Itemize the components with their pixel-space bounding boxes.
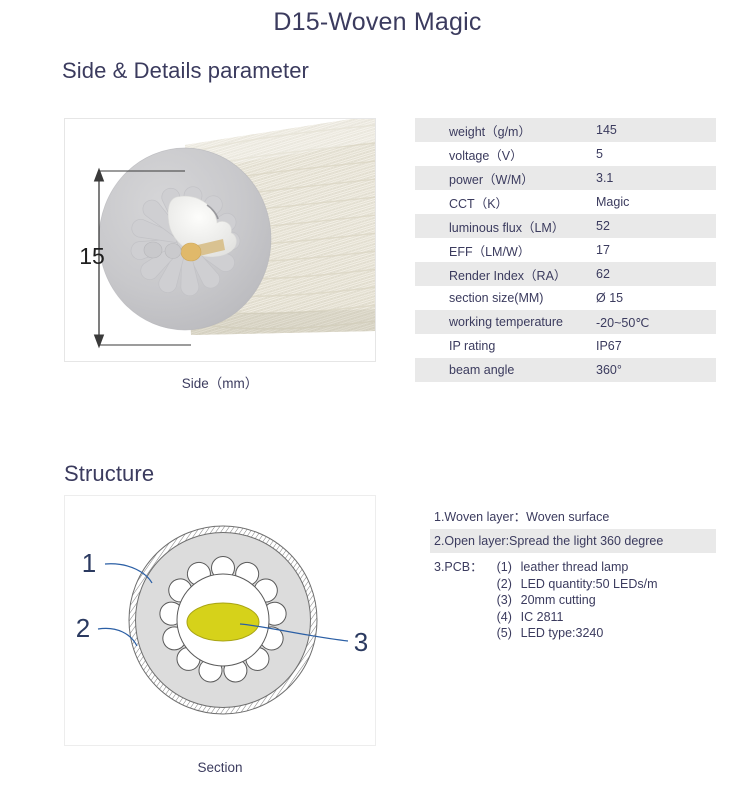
param-name: power（W/M） <box>415 166 582 190</box>
section-diagram-frame: 1 2 3 <box>64 495 376 746</box>
param-value: 5 <box>582 142 716 166</box>
pcb-entry-number: (4) <box>497 609 521 626</box>
table-row: luminous flux（LM） 52 <box>415 214 716 238</box>
structure-description-list: 1.Woven layer：Woven surface 2.Open layer… <box>430 505 716 642</box>
pcb-entry-number: (5) <box>497 625 521 642</box>
param-value: 3.1 <box>582 166 716 190</box>
table-row: EFF（LM/W） 17 <box>415 238 716 262</box>
pcb-entry-text: 20mm cutting <box>521 593 596 607</box>
pcb-entry: (1)leather thread lamp <box>497 559 716 576</box>
param-name: EFF（LM/W） <box>415 238 582 262</box>
pcb-entry-list: (1)leather thread lamp (2)LED quantity:5… <box>497 559 716 642</box>
section-caption: Section <box>64 760 376 775</box>
param-value: IP67 <box>582 334 716 358</box>
side-product-photo: 15 <box>65 119 376 362</box>
param-name: section size(MM) <box>415 286 582 310</box>
pcb-entry-number: (2) <box>497 576 521 593</box>
pcb-ellipse <box>187 603 259 641</box>
pcb-entry: (5)LED type:3240 <box>497 625 716 642</box>
structure-heading: Structure <box>64 460 364 487</box>
table-row: voltage（V） 5 <box>415 142 716 166</box>
pcb-entry-text: LED type:3240 <box>521 626 604 640</box>
pcb-entry-number: (3) <box>497 592 521 609</box>
table-row: IP rating IP67 <box>415 334 716 358</box>
table-row: working temperature -20~50℃ <box>415 310 716 334</box>
side-photo-frame: 15 <box>64 118 376 362</box>
structure-item-open-layer: 2.Open layer:Spread the light 360 degree <box>430 529 716 553</box>
parameter-table-body: weight（g/m） 145 voltage（V） 5 power（W/M） … <box>415 118 716 382</box>
pcb-entry: (2)LED quantity:50 LEDs/m <box>497 576 716 593</box>
table-row: beam angle 360° <box>415 358 716 382</box>
table-row: section size(MM) Ø 15 <box>415 286 716 310</box>
param-value: 360° <box>582 358 716 382</box>
param-value: Magic <box>582 190 716 214</box>
pcb-entry: (4)IC 2811 <box>497 609 716 626</box>
param-value: 62 <box>582 262 716 286</box>
callout-1: 1 <box>82 548 96 578</box>
param-value: 17 <box>582 238 716 262</box>
structure-item-pcb: 3.PCB： (1)leather thread lamp (2)LED qua… <box>430 553 716 642</box>
table-row: CCT（K） Magic <box>415 190 716 214</box>
pcb-entry-text: leather thread lamp <box>521 560 629 574</box>
pcb-entry-number: (1) <box>497 559 521 576</box>
table-row: weight（g/m） 145 <box>415 118 716 142</box>
callout-2: 2 <box>76 613 90 643</box>
parameter-table: weight（g/m） 145 voltage（V） 5 power（W/M） … <box>415 118 716 382</box>
structure-item-woven-layer: 1.Woven layer：Woven surface <box>430 505 716 529</box>
param-value: 145 <box>582 118 716 142</box>
pcb-entry-text: IC 2811 <box>521 610 564 624</box>
param-name: voltage（V） <box>415 142 582 166</box>
table-row: power（W/M） 3.1 <box>415 166 716 190</box>
dimension-value: 15 <box>79 243 105 269</box>
table-row: Render Index（RA） 62 <box>415 262 716 286</box>
pcb-entry: (3)20mm cutting <box>497 592 716 609</box>
param-name: IP rating <box>415 334 582 358</box>
param-value: -20~50℃ <box>582 310 716 334</box>
param-name: luminous flux（LM） <box>415 214 582 238</box>
side-caption: Side（mm） <box>64 372 376 392</box>
param-value: Ø 15 <box>582 286 716 310</box>
param-value: 52 <box>582 214 716 238</box>
param-name: CCT（K） <box>415 190 582 214</box>
param-name: Render Index（RA） <box>415 262 582 286</box>
pcb-entry-text: LED quantity:50 LEDs/m <box>521 577 658 591</box>
param-name: beam angle <box>415 358 582 382</box>
pcb-label: 3.PCB： <box>434 559 497 642</box>
page-title: D15-Woven Magic <box>0 8 755 37</box>
side-details-heading: Side & Details parameter <box>62 57 362 84</box>
param-name: working temperature <box>415 310 582 334</box>
param-name: weight（g/m） <box>415 118 582 142</box>
section-diagram: 1 2 3 <box>65 496 376 746</box>
callout-3: 3 <box>354 627 368 657</box>
